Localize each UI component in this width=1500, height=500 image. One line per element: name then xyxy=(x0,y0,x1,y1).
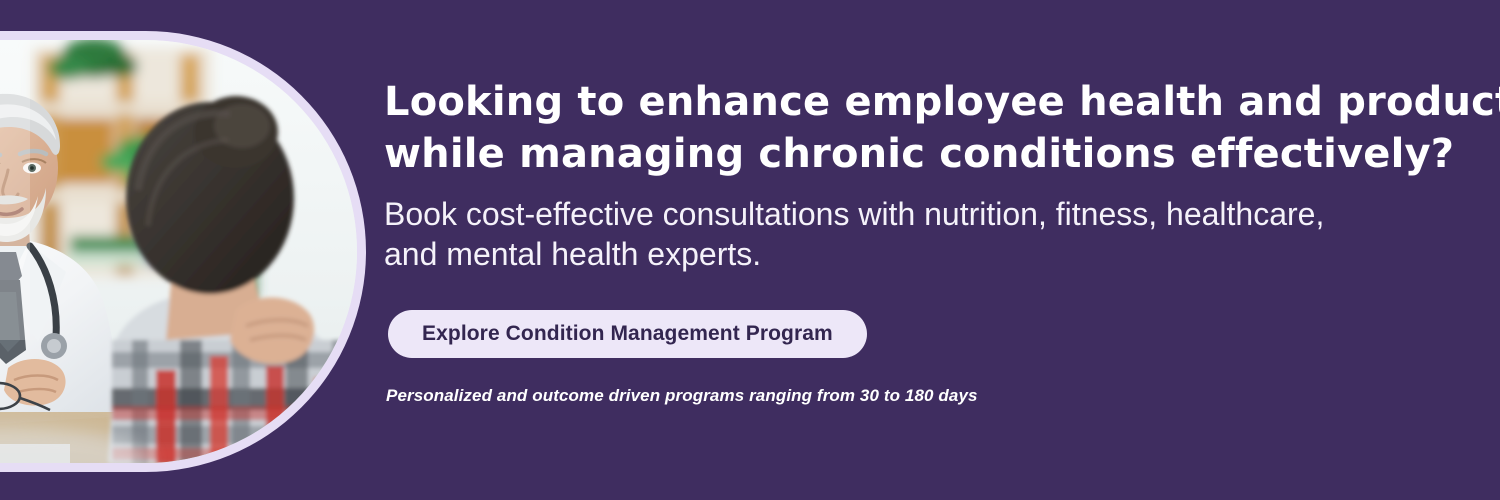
subheading-line-1: Book cost-effective consultations with n… xyxy=(384,194,1479,234)
banner-content: Looking to enhance employee health and p… xyxy=(384,0,1484,500)
consultation-photo-illustration xyxy=(0,40,357,463)
plaid-pattern xyxy=(112,340,357,463)
subheading: Book cost-effective consultations with n… xyxy=(384,194,1479,274)
headline-line-1: Looking to enhance employee health and p… xyxy=(384,76,1479,128)
photo-ring-border xyxy=(0,31,366,472)
page-title: Looking to enhance employee health and p… xyxy=(384,76,1479,180)
promo-banner: Looking to enhance employee health and p… xyxy=(0,0,1500,500)
subheading-line-2: and mental health experts. xyxy=(384,234,1479,274)
headline-line-2: while managing chronic conditions effect… xyxy=(384,128,1479,180)
doctor-right-hand xyxy=(4,359,66,406)
explore-condition-management-program-button[interactable]: Explore Condition Management Program xyxy=(388,310,867,358)
footnote-text: Personalized and outcome driven programs… xyxy=(386,386,978,406)
consultation-photo xyxy=(0,40,357,463)
